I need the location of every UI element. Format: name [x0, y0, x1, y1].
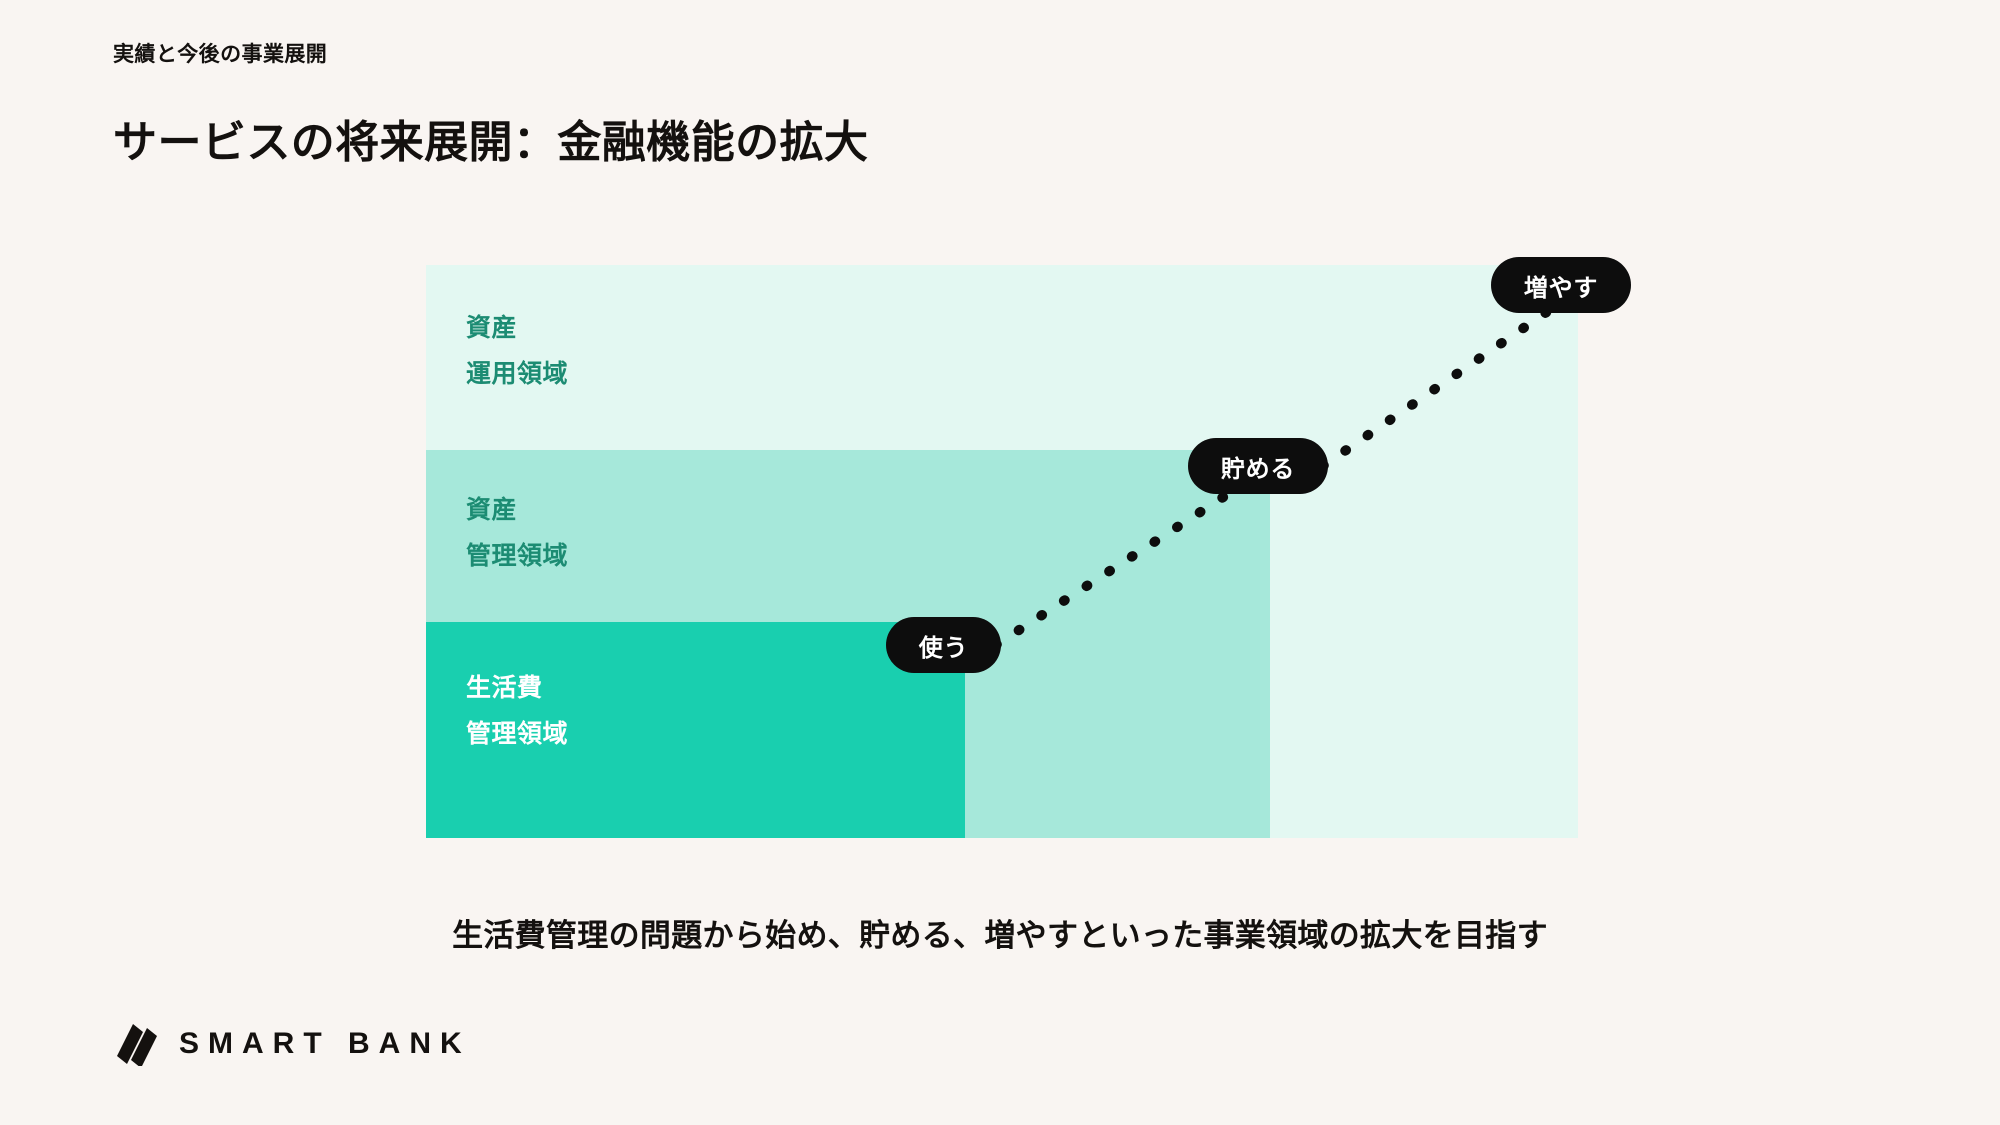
slide-eyebrow: 実績と今後の事業展開 — [113, 38, 327, 68]
step-pill-save[interactable]: 貯める — [1188, 438, 1328, 494]
step-pill-grow[interactable]: 増やす — [1491, 257, 1631, 313]
slide-caption: 生活費管理の問題から始め、貯める、増やすといった事業領域の拡大を目指す — [0, 910, 2000, 955]
brand-logo-text: SMART BANK — [179, 1027, 471, 1061]
brand-logo: SMART BANK — [113, 1022, 471, 1066]
step-pill-use[interactable]: 使う — [886, 617, 1001, 673]
dotted-growth-path-icon — [426, 185, 1578, 838]
smartbank-mark-icon — [113, 1022, 157, 1066]
expansion-diagram: 資産 運用領域 資産 管理領域 生活費 管理領域 使う 貯める 増やす — [426, 265, 1578, 838]
slide-root: 実績と今後の事業展開 サービスの将来展開：金融機能の拡大 資産 運用領域 資産 … — [0, 0, 2000, 1125]
page-title: サービスの将来展開：金融機能の拡大 — [113, 118, 868, 169]
